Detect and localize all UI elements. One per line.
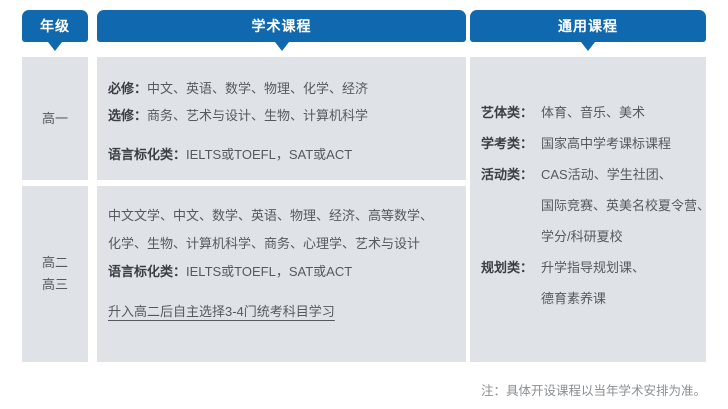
general-row-activity-value-1: 国际竞赛、英美名校夏令营、 <box>541 190 710 221</box>
grade-cell-row2-inner: 高二 高三 <box>22 186 88 362</box>
academic-row1-content: 必修：中文、英语、数学、物理、化学、经济 选修：商务、艺术与设计、生物、计算机科… <box>97 57 466 168</box>
academic-row1-required-label: 必修： <box>108 81 147 96</box>
general-row-planning-value-1: 德育素养课 <box>541 283 706 314</box>
header-tab-academic-label: 学术课程 <box>252 16 312 36</box>
grade-row2-label-line1: 高二 <box>42 252 68 274</box>
general-row-exam-values: 国家高中学考课标课程 <box>541 128 706 159</box>
academic-row2-note: 升入高二后自主选择3-4门统考科目学习 <box>108 298 466 326</box>
academic-row2-subjects-line1: 中文文学、中文、数学、英语、物理、经济、高等数学、 <box>108 202 466 230</box>
grade-cell-row2: 高二 高三 <box>22 186 88 362</box>
academic-row2-language-line: 语言标化类：IELTS或TOEFL，SAT或ACT <box>108 258 466 286</box>
grade-row1-label: 高一 <box>42 108 68 130</box>
header-tab-academic[interactable]: 学术课程 <box>97 10 466 42</box>
header-tab-general-notch-icon <box>581 42 595 51</box>
academic-row2-language-value: IELTS或TOEFL，SAT或ACT <box>186 264 352 279</box>
general-row-art-sports-values: 体育、音乐、美术 <box>541 97 706 128</box>
academic-row1-language-line: 语言标化类：IELTS或TOEFL，SAT或ACT <box>108 141 466 168</box>
general-row-art-sports-value-0: 体育、音乐、美术 <box>541 97 706 128</box>
general-content: 艺体类： 体育、音乐、美术 学考类： 国家高中学考课标课程 活动类： CAS活动… <box>470 57 706 314</box>
header-tab-row: 年级 学术课程 通用课程 <box>0 0 728 55</box>
general-row-activity-value-0: CAS活动、学生社团、 <box>541 159 710 190</box>
general-row-activity-label: 活动类： <box>481 159 541 190</box>
grade-row2-label-line2: 高三 <box>42 274 68 296</box>
grade-cell-row1-inner: 高一 <box>22 57 88 180</box>
general-row-exam-label: 学考类： <box>481 128 541 159</box>
academic-cell-row1: 必修：中文、英语、数学、物理、化学、经济 选修：商务、艺术与设计、生物、计算机科… <box>97 57 466 180</box>
general-row-art-sports-label: 艺体类： <box>481 97 541 128</box>
general-row-planning-values: 升学指导规划课、 德育素养课 <box>541 252 706 314</box>
academic-row1-elective-line: 选修：商务、艺术与设计、生物、计算机科学 <box>108 102 466 129</box>
general-row-activity: 活动类： CAS活动、学生社团、 国际竞赛、英美名校夏令营、 学分/科研夏校 <box>481 159 706 252</box>
academic-row1-elective-label: 选修： <box>108 108 147 123</box>
general-row-art-sports: 艺体类： 体育、音乐、美术 <box>481 97 706 128</box>
academic-row1-required-value: 中文、英语、数学、物理、化学、经济 <box>147 81 368 96</box>
general-row-activity-value-2: 学分/科研夏校 <box>541 221 710 252</box>
academic-row1-language-label: 语言标化类： <box>108 147 186 162</box>
header-tab-general[interactable]: 通用课程 <box>470 10 706 42</box>
general-row-exam-value-0: 国家高中学考课标课程 <box>541 128 706 159</box>
header-tab-general-label: 通用课程 <box>558 16 618 36</box>
header-tab-grade-label: 年级 <box>40 16 70 36</box>
academic-cell-row2: 中文文学、中文、数学、英语、物理、经济、高等数学、 化学、生物、计算机科学、商务… <box>97 186 466 362</box>
header-tab-academic-notch-icon <box>275 42 289 51</box>
general-row-planning: 规划类： 升学指导规划课、 德育素养课 <box>481 252 706 314</box>
general-row-exam: 学考类： 国家高中学考课标课程 <box>481 128 706 159</box>
general-row-planning-value-0: 升学指导规划课、 <box>541 252 706 283</box>
header-tab-grade[interactable]: 年级 <box>22 10 88 42</box>
footnote: 注：具体开设课程以当年学术安排为准。 <box>481 380 706 399</box>
academic-row1-elective-value: 商务、艺术与设计、生物、计算机科学 <box>147 108 368 123</box>
academic-row2-content: 中文文学、中文、数学、英语、物理、经济、高等数学、 化学、生物、计算机科学、商务… <box>97 186 466 326</box>
academic-row2-subjects-line2: 化学、生物、计算机科学、商务、心理学、艺术与设计 <box>108 230 466 258</box>
general-row-planning-label: 规划类： <box>481 252 541 283</box>
general-row-activity-values: CAS活动、学生社团、 国际竞赛、英美名校夏令营、 学分/科研夏校 <box>541 159 710 252</box>
academic-row1-language-value: IELTS或TOEFL，SAT或ACT <box>186 147 352 162</box>
academic-row1-required-line: 必修：中文、英语、数学、物理、化学、经济 <box>108 75 466 102</box>
header-tab-grade-notch-icon <box>48 42 62 51</box>
academic-row2-language-label: 语言标化类： <box>108 264 186 279</box>
general-cell: 艺体类： 体育、音乐、美术 学考类： 国家高中学考课标课程 活动类： CAS活动… <box>470 57 706 362</box>
grade-cell-row1: 高一 <box>22 57 88 180</box>
